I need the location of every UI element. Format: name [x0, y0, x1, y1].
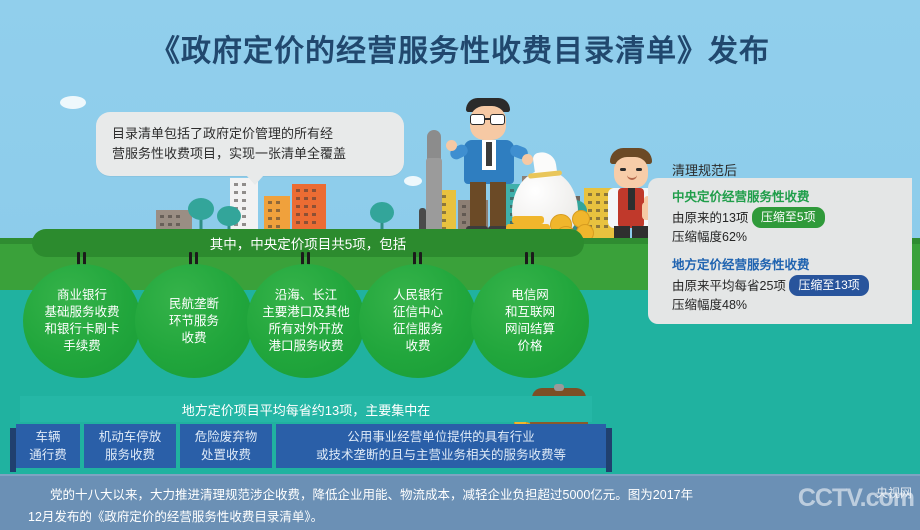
watermark-cn-label: 央视网 — [876, 484, 912, 501]
caption-line-1: 党的十八大以来，大力推进清理规范涉企收费，降低企业用能、物流成本，减轻企业负担超… — [28, 484, 728, 506]
right-results-panel: 中央定价经营服务性收费 由原来的13项 压缩至5项 压缩幅度62% 地方定价经营… — [648, 178, 912, 324]
local-item-parking-service[interactable]: 机动车停放服务收费 — [84, 424, 176, 468]
cloud-shape — [60, 96, 86, 109]
result-central-prefix: 由原来的13项 — [672, 211, 748, 225]
central-items-group: 商业银行基础服务收费和银行卡刷卡手续费 民航垄断环节服务收费 沿海、长江主要港口… — [20, 252, 590, 378]
central-item-credit-reference[interactable]: 人民银行征信中心征信服务收费 — [359, 264, 477, 378]
bubble-line-1: 目录清单包括了政府定价管理的所有经 — [112, 124, 388, 144]
result-central-rate: 压缩幅度62% — [672, 228, 900, 247]
rocket-pen-illustration — [424, 130, 444, 240]
footer-divider — [0, 474, 920, 476]
result-local-pill: 压缩至13项 — [789, 275, 868, 296]
result-local-rate: 压缩幅度48% — [672, 296, 900, 315]
bubble-line-2: 营服务性收费项目，实现一张清单全覆盖 — [112, 144, 388, 164]
right-panel-label: 清理规范后 — [672, 160, 737, 179]
result-local-prefix: 由原来平均每省25项 — [672, 279, 786, 293]
infographic-canvas: 《政府定价的经营服务性收费目录清单》发布 — [0, 0, 920, 530]
result-central-pill: 压缩至5项 — [752, 207, 825, 228]
central-item-telecom-internet[interactable]: 电信网和互联网网间结算价格 — [471, 264, 589, 378]
central-item-ports[interactable]: 沿海、长江主要港口及其他所有对外开放港口服务收费 — [247, 264, 365, 378]
speech-bubble-catalog-note: 目录清单包括了政府定价管理的所有经 营服务性收费项目，实现一张清单全覆盖 — [96, 112, 404, 176]
central-item-commercial-bank[interactable]: 商业银行基础服务收费和银行卡刷卡手续费 — [23, 264, 141, 378]
local-pricing-banner-label: 地方定价项目平均每省约13项，主要集中在 — [182, 400, 430, 419]
page-title: 《政府定价的经营服务性收费目录清单》发布 — [0, 26, 920, 70]
watermark-brand: CCTV — [798, 484, 860, 512]
local-pricing-banner: 地方定价项目平均每省约13项，主要集中在 — [20, 396, 592, 422]
result-local-pricing: 地方定价经营服务性收费 由原来平均每省25项 压缩至13项 压缩幅度48% — [672, 256, 900, 315]
cctv-watermark: 央视网 CCTV.com — [790, 486, 914, 528]
caption-line-2: 12月发布的《政府定价的经营服务性收费目录清单》。 — [28, 506, 728, 528]
local-item-vehicle-toll[interactable]: 车辆通行费 — [16, 424, 80, 468]
local-item-public-utilities[interactable]: 公用事业经营单位提供的具有行业或技术垄断的且与主营业务相关的服务收费等 — [276, 424, 606, 468]
local-item-hazardous-waste[interactable]: 危险废弃物处置收费 — [180, 424, 272, 468]
result-local-heading: 地方定价经营服务性收费 — [672, 256, 900, 275]
central-item-civil-aviation[interactable]: 民航垄断环节服务收费 — [135, 264, 253, 378]
result-central-heading: 中央定价经营服务性收费 — [672, 188, 900, 207]
central-pricing-banner-label: 其中，中央定价项目共5项，包括 — [210, 233, 407, 253]
caption-text: 党的十八大以来，大力推进清理规范涉企收费，降低企业用能、物流成本，减轻企业负担超… — [28, 484, 728, 528]
result-central-pricing: 中央定价经营服务性收费 由原来的13项 压缩至5项 压缩幅度62% — [672, 188, 900, 247]
